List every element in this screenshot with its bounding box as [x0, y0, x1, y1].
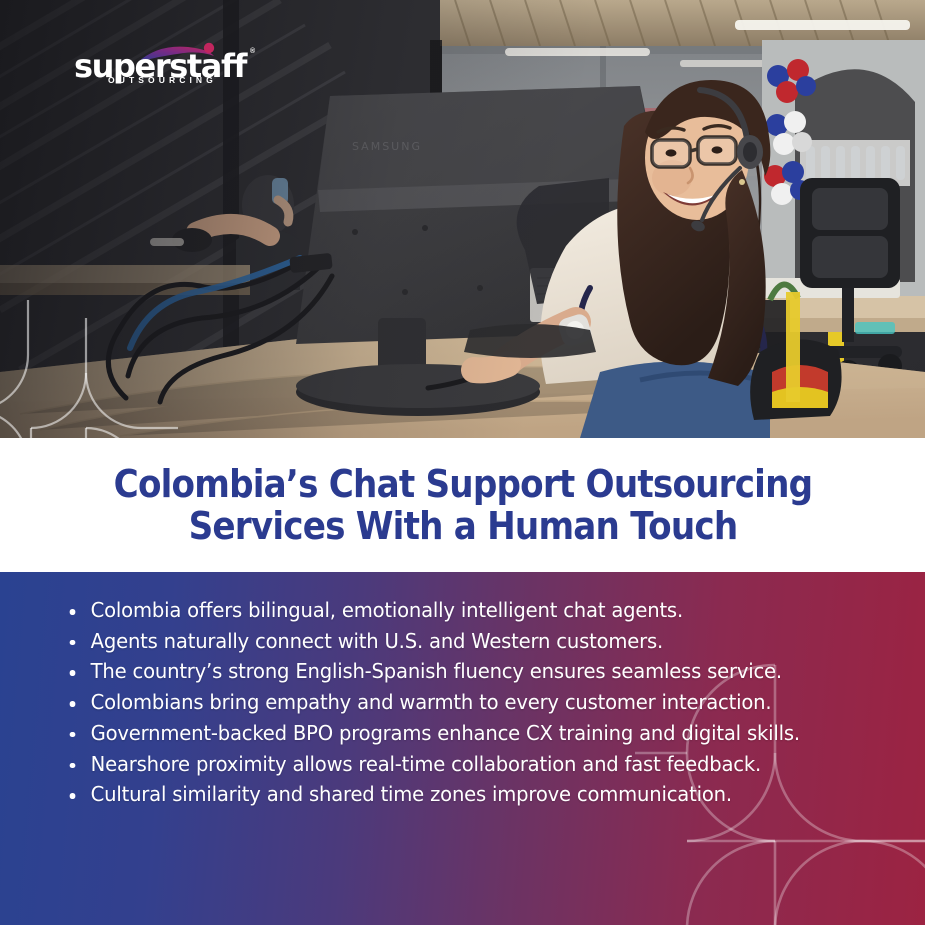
bullet-dot-icon — [70, 670, 75, 676]
title-band: Colombia’s Chat Support Outsourcing Serv… — [0, 438, 925, 572]
superstaff-logo[interactable]: superstaff OUTSOURCING ® — [74, 42, 264, 88]
list-item-text: Cultural similarity and shared time zone… — [91, 782, 732, 806]
benefits-band: Colombia offers bilingual, emotionally i… — [0, 572, 925, 925]
list-item-text: Colombians bring empathy and warmth to e… — [91, 690, 772, 714]
list-item: Colombia offers bilingual, emotionally i… — [62, 596, 816, 626]
list-item-text: Nearshore proximity allows real-time col… — [91, 752, 761, 776]
list-item: Cultural similarity and shared time zone… — [62, 780, 816, 810]
bullet-dot-icon — [70, 732, 75, 738]
list-item-text: Agents naturally connect with U.S. and W… — [91, 629, 663, 653]
logo-registered-mark: ® — [250, 48, 255, 55]
bullet-dot-icon — [70, 793, 75, 799]
svg-text:SAMSUNG: SAMSUNG — [352, 140, 422, 153]
hero-photo: SAMSUNG — [0, 0, 925, 438]
list-item: The country’s strong English-Spanish flu… — [62, 657, 816, 687]
infographic-poster: SAMSUNG — [0, 0, 925, 925]
list-item: Colombians bring empathy and warmth to e… — [62, 688, 816, 718]
list-item: Agents naturally connect with U.S. and W… — [62, 627, 816, 657]
bullet-dot-icon — [70, 701, 75, 707]
logo-tagline: OUTSOURCING — [108, 76, 217, 85]
bullet-dot-icon — [70, 640, 75, 646]
bullet-dot-icon — [70, 609, 75, 615]
list-item-text: Government-backed BPO programs enhance C… — [91, 721, 800, 745]
list-item: Nearshore proximity allows real-time col… — [62, 750, 816, 780]
list-item: Government-backed BPO programs enhance C… — [62, 719, 816, 749]
bullet-dot-icon — [70, 763, 75, 769]
list-item-text: The country’s strong English-Spanish flu… — [91, 659, 782, 683]
list-item-text: Colombia offers bilingual, emotionally i… — [91, 598, 683, 622]
benefits-list: Colombia offers bilingual, emotionally i… — [62, 596, 852, 811]
page-title: Colombia’s Chat Support Outsourcing Serv… — [107, 463, 818, 547]
